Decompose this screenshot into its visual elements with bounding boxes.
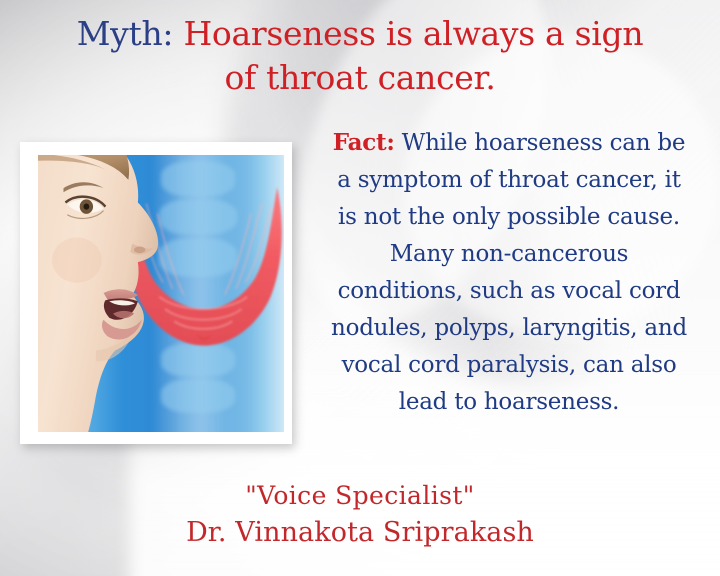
fact-line-6: nodules, polyps, laryngitis, and [302,310,716,347]
fact-label: Fact: [333,129,395,156]
fact-line-8: lead to hoarseness. [302,384,716,421]
woman-profile-photo [38,155,186,432]
fact-text-block: Fact: While hoarseness can be a symptom … [302,124,716,421]
fact-line-4: Many non-cancerous [302,236,716,273]
headline-line-1-rest: Hoarseness is always a sign [173,14,643,53]
fact-line-2: a symptom of throat cancer, it [302,162,716,199]
headline-myth-label: Myth: [77,14,174,53]
headline: Myth: Hoarseness is always a sign of thr… [0,12,720,100]
poster-canvas: Myth: Hoarseness is always a sign of thr… [0,0,720,576]
signature-name: Dr. Vinnakota Sriprakash [0,514,720,552]
fact-line-7: vocal cord paralysis, can also [302,347,716,384]
fact-line-1-text: While hoarseness can be [402,130,686,156]
photo-frame [20,142,292,444]
headline-line-2: of throat cancer. [0,56,720,100]
fact-line-1: Fact: While hoarseness can be [302,124,716,162]
headline-line-1: Myth: Hoarseness is always a sign [0,12,720,56]
fact-line-3: is not the only possible cause. [302,199,716,236]
signature-block: "Voice Specialist" Dr. Vinnakota Sriprak… [0,478,720,552]
thyroid-photo [38,155,284,432]
signature-title: "Voice Specialist" [0,478,720,514]
fact-line-5: conditions, such as vocal cord [302,273,716,310]
